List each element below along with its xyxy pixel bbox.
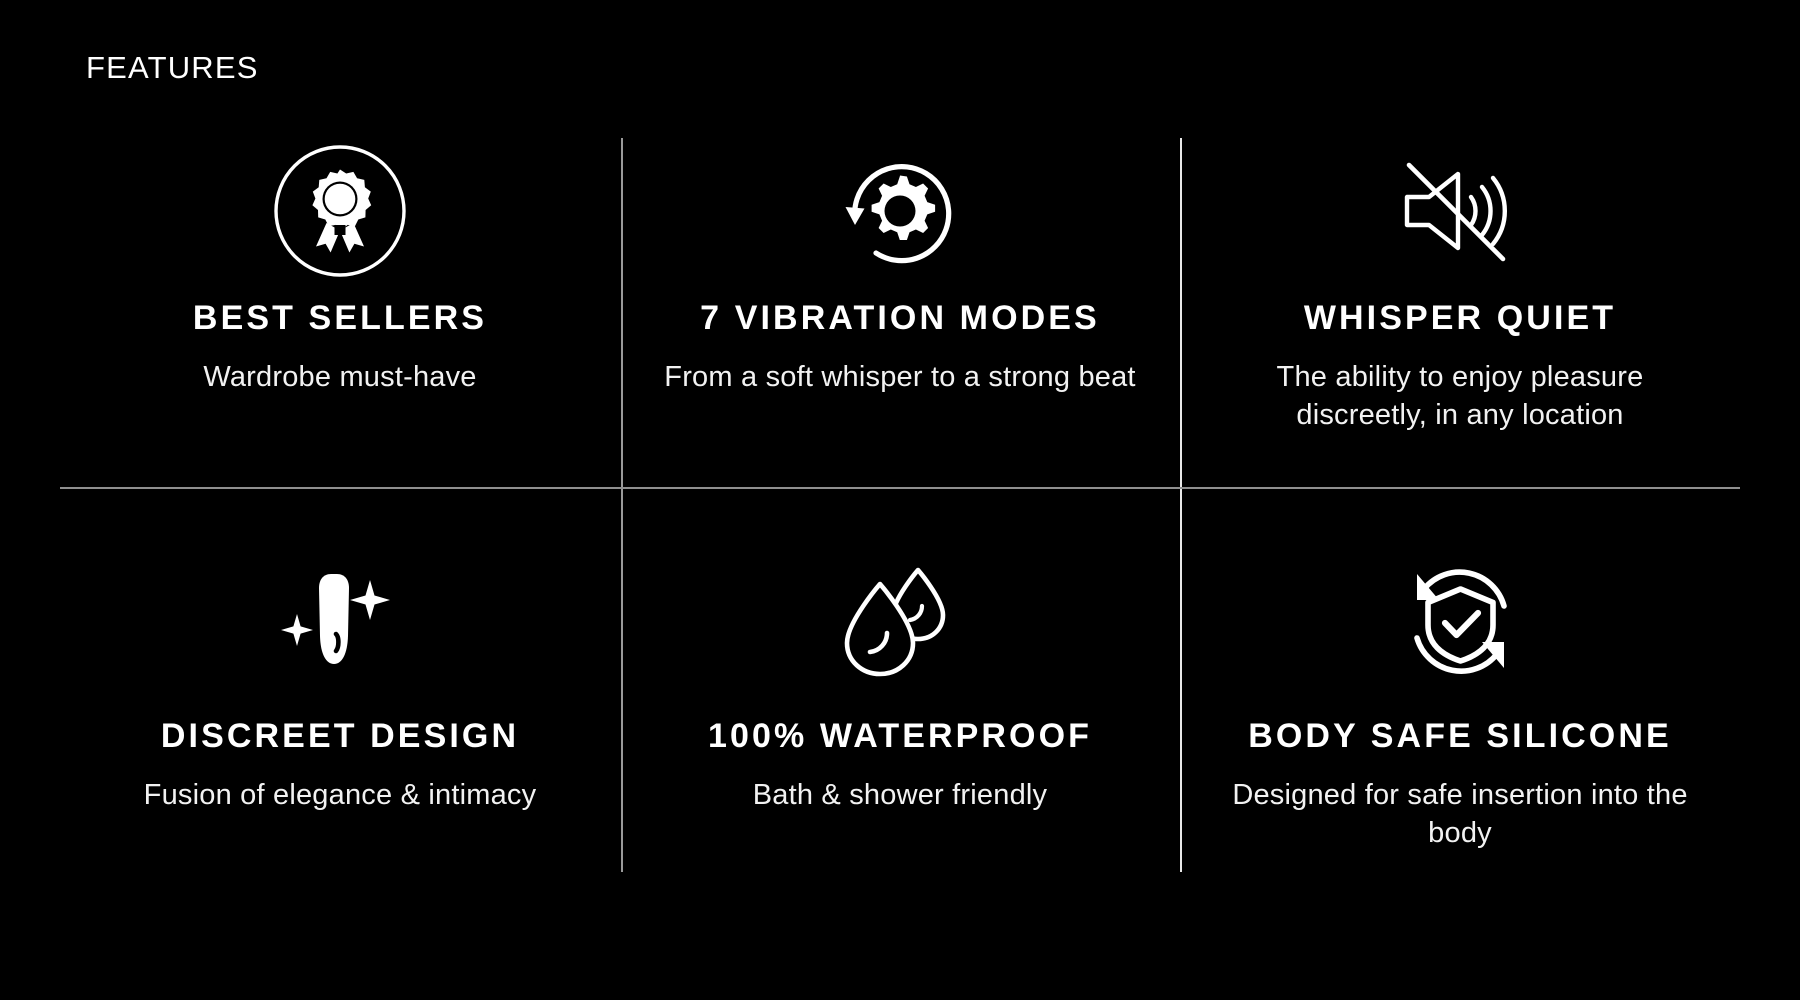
feature-description: Wardrobe must-have [203,359,476,396]
features-section: FEATURES BEST SELLERS Wardrobe must-have [0,0,1800,1000]
feature-description: Fusion of elegance & intimacy [144,777,537,814]
feature-title: 100% WATERPROOF [708,718,1092,755]
feature-card-discreet-design[interactable]: DISCREET DESIGN Fusion of elegance & int… [60,498,620,868]
feature-title: BODY SAFE SILICONE [1248,718,1672,755]
shield-check-refresh-icon [1393,546,1528,696]
feature-title: WHISPER QUIET [1304,300,1616,337]
speaker-muted-icon [1385,136,1535,286]
feature-title: BEST SELLERS [193,300,487,337]
feature-description: Bath & shower friendly [753,777,1048,814]
feature-card-vibration-modes[interactable]: 7 VIBRATION MODES From a soft whisper to… [620,128,1180,498]
feature-card-waterproof[interactable]: 100% WATERPROOF Bath & shower friendly [620,498,1180,868]
features-grid: BEST SELLERS Wardrobe must-have 7 VIBRAT… [60,128,1740,868]
feature-card-best-sellers[interactable]: BEST SELLERS Wardrobe must-have [60,128,620,498]
feature-title: DISCREET DESIGN [161,718,519,755]
feature-card-whisper-quiet[interactable]: WHISPER QUIET The ability to enjoy pleas… [1180,128,1740,498]
page-title: FEATURES [86,52,259,83]
feature-description: Designed for safe insertion into the bod… [1220,777,1700,851]
water-drops-icon [830,546,970,696]
sparkle-teardrop-icon [275,546,405,696]
gear-refresh-icon [830,136,970,286]
feature-description: The ability to enjoy pleasure discreetly… [1220,359,1700,433]
award-badge-icon [270,136,410,286]
feature-description: From a soft whisper to a strong beat [664,359,1135,396]
feature-title: 7 VIBRATION MODES [700,300,1100,337]
feature-card-body-safe-silicone[interactable]: BODY SAFE SILICONE Designed for safe ins… [1180,498,1740,868]
